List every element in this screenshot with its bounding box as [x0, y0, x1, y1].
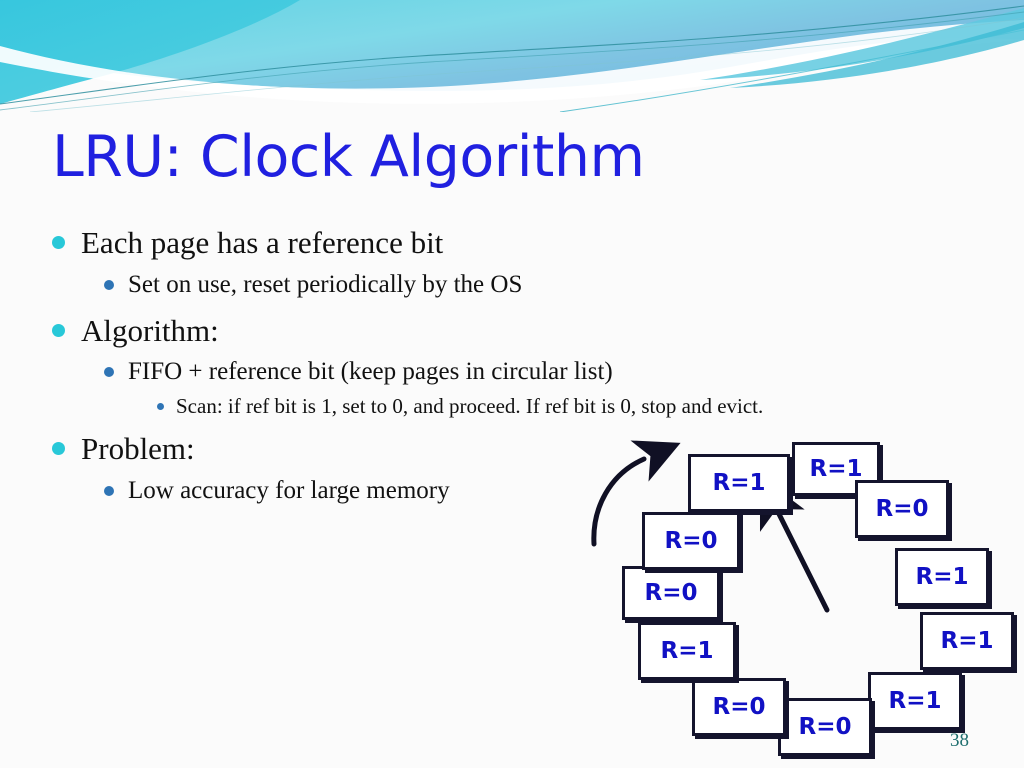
clock-algorithm-diagram: R=1R=1R=0R=1R=1R=1R=0R=0R=1R=0R=0 [580, 440, 1024, 760]
bullet-text: FIFO + reference bit (keep pages in circ… [128, 355, 613, 389]
page-frame-box: R=1 [895, 548, 989, 606]
page-frame-box: R=0 [622, 566, 720, 620]
decorative-top-banner [0, 0, 1024, 112]
bullet-marker-icon [52, 236, 65, 249]
page-frame-box: R=1 [688, 454, 790, 512]
slide-number: 38 [950, 730, 969, 752]
bullet-text: Low accuracy for large memory [128, 474, 450, 508]
page-frame-box: R=0 [692, 678, 786, 736]
bullet-text: Scan: if ref bit is 1, set to 0, and pro… [176, 392, 763, 420]
bullet-marker-icon [104, 486, 114, 496]
bullet-item-level2: Set on use, reset periodically by the OS [104, 268, 952, 302]
page-frame-box: R=0 [778, 698, 872, 756]
bullet-marker-icon [157, 403, 164, 410]
clock-hand-pointer-arrow-icon [779, 514, 827, 610]
page-frame-box: R=1 [868, 672, 962, 730]
bullet-item-level1: Each page has a reference bit [52, 222, 952, 264]
page-frame-box: R=1 [920, 612, 1014, 670]
clockwise-rotation-arrow-icon [594, 459, 644, 544]
bullet-marker-icon [104, 280, 114, 290]
page-frame-box: R=0 [855, 480, 949, 538]
bullet-text: Set on use, reset periodically by the OS [128, 268, 522, 302]
page-frame-box: R=1 [638, 622, 736, 680]
slide-title: LRU: Clock Algorithm [52, 126, 645, 188]
bullet-marker-icon [104, 367, 114, 377]
bullet-marker-icon [52, 324, 65, 337]
bullet-text: Each page has a reference bit [81, 222, 443, 264]
bullet-text: Problem: [81, 428, 195, 470]
bullet-item-level2: FIFO + reference bit (keep pages in circ… [104, 355, 952, 389]
bullet-item-level1: Algorithm: [52, 310, 952, 352]
bullet-text: Algorithm: [81, 310, 219, 352]
bullet-item-level3: Scan: if ref bit is 1, set to 0, and pro… [157, 392, 952, 420]
page-frame-box: R=0 [642, 512, 740, 570]
bullet-marker-icon [52, 442, 65, 455]
